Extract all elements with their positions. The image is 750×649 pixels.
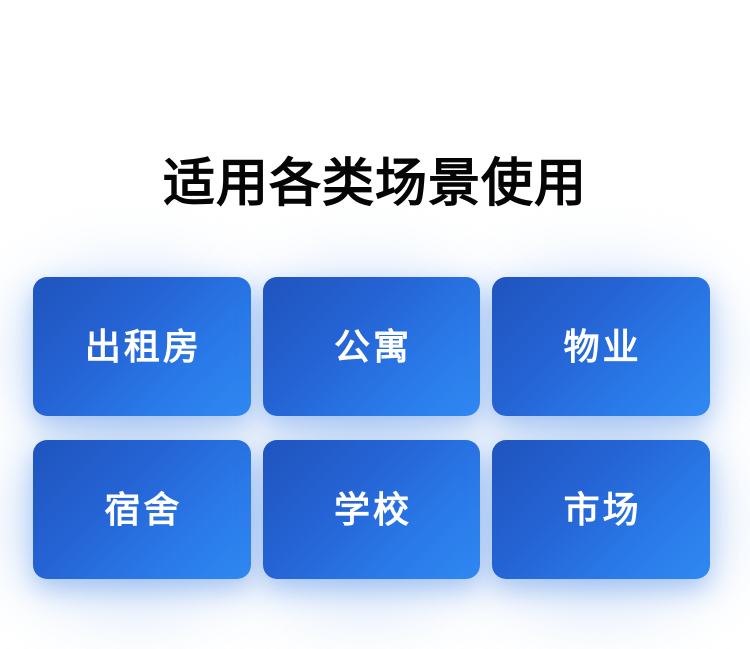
scenario-card-label: 宿舍 — [101, 492, 182, 528]
scenario-card-market[interactable]: 市场 — [492, 440, 710, 579]
scenario-card-dormitory[interactable]: 宿舍 — [33, 440, 251, 579]
scenario-section: 适用各类场景使用 出租房 公寓 物业 宿舍 学校 市场 — [0, 0, 750, 649]
scenario-card-label: 出租房 — [82, 329, 202, 365]
scenario-card-label: 学校 — [331, 492, 412, 528]
page-title: 适用各类场景使用 — [0, 155, 750, 215]
scenario-card-label: 市场 — [561, 492, 642, 528]
scenario-card-school[interactable]: 学校 — [263, 440, 481, 579]
scenario-card-property-management[interactable]: 物业 — [492, 277, 710, 416]
scenario-card-label: 公寓 — [331, 329, 412, 365]
scenario-card-label: 物业 — [561, 329, 642, 365]
scenario-card-rental-house[interactable]: 出租房 — [33, 277, 251, 416]
scenario-card-apartment[interactable]: 公寓 — [263, 277, 481, 416]
scenario-card-grid: 出租房 公寓 物业 宿舍 学校 市场 — [33, 277, 710, 579]
